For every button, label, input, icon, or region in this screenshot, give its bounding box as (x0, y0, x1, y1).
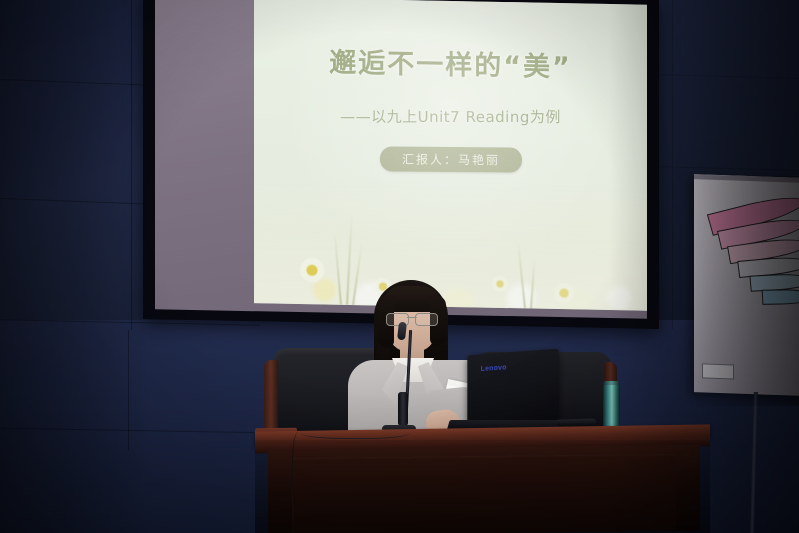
lens-right (415, 313, 438, 326)
eyeglasses-icon (386, 313, 438, 324)
microphone-body (398, 392, 408, 426)
wall-seam (672, 0, 673, 330)
hanging-cable (292, 432, 307, 508)
slide-title: 邂逅不一样的“美” (254, 39, 647, 86)
desk-cable (300, 424, 410, 439)
slide-subtitle: ——以九上Unit7 Reading为例 (254, 106, 647, 128)
laptop-brand-logo: Lenovo (481, 364, 507, 373)
podium-desk-panel (292, 454, 676, 533)
projected-slide: 邂逅不一样的“美” ——以九上Unit7 Reading为例 汇报人：马艳丽 (254, 0, 647, 311)
poster-band (762, 289, 799, 305)
flipchart-poster (694, 174, 799, 396)
presenter-badge: 汇报人：马艳丽 (379, 146, 521, 172)
daisy-icon (554, 283, 574, 303)
wall-seam (128, 330, 129, 450)
presentation-hall-photo: 邂逅不一样的“美” ——以九上Unit7 Reading为例 汇报人：马艳丽 (0, 0, 799, 533)
wall-seam (131, 0, 132, 330)
poster-note (702, 363, 734, 379)
projection-screen-surface: 邂逅不一样的“美” ——以九上Unit7 Reading为例 汇报人：马艳丽 (155, 0, 647, 319)
daisy-icon (300, 258, 324, 282)
